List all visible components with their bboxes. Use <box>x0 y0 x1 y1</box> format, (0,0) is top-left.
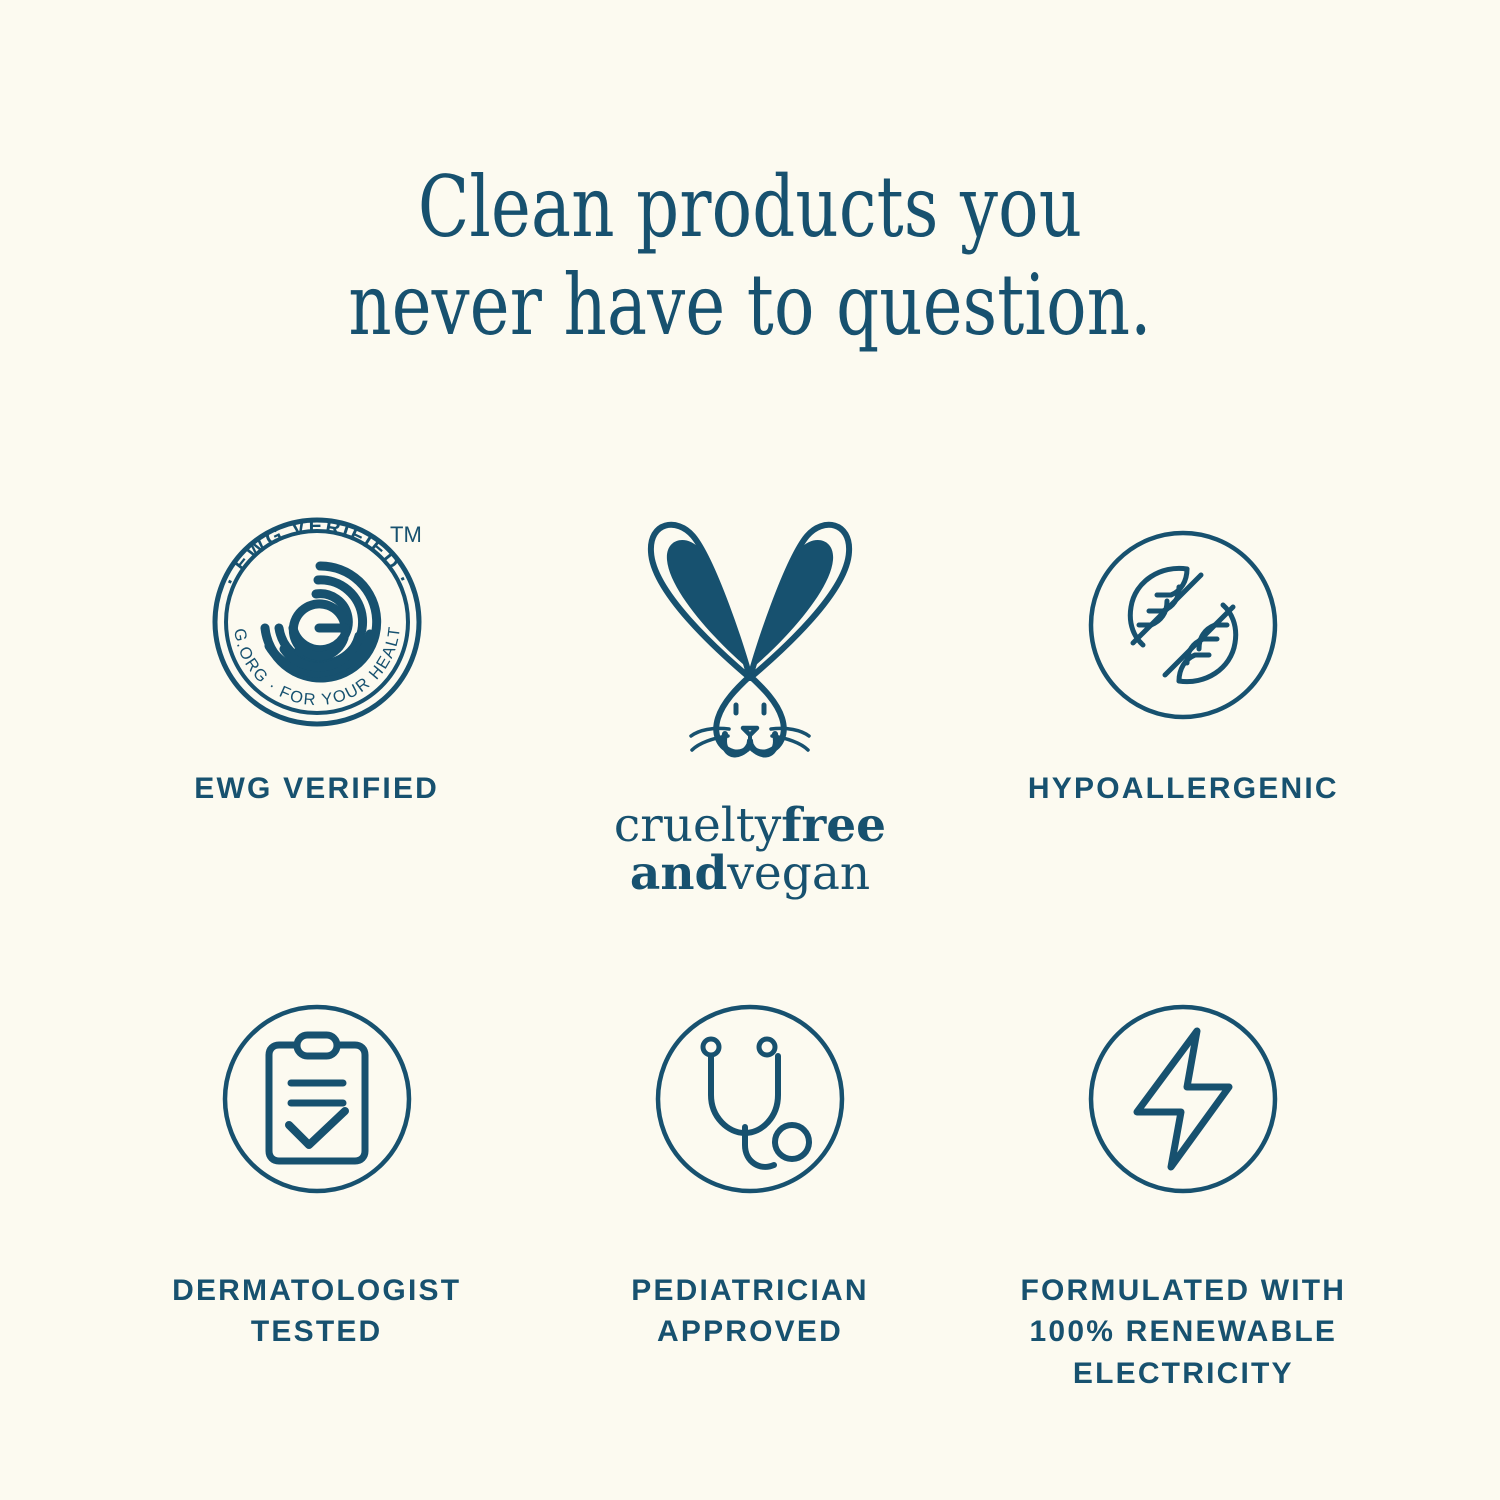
bunny-heart-ears-icon <box>625 500 875 800</box>
clipboard-checkmark-in-circle-icon <box>217 999 417 1199</box>
dermatologist-icon-container <box>217 974 417 1224</box>
page-title-line-2: never have to question. <box>150 256 1350 354</box>
logotype-free: free <box>781 798 886 853</box>
label-line-3: ELECTRICITY <box>1020 1353 1346 1394</box>
electricity-icon-container <box>1083 974 1283 1224</box>
cruelty-free-logotype: crueltyfree andvegan <box>614 802 886 898</box>
badge-ewg-verified: · EWG VERIFIED · EWG.ORG · FOR YOUR HEAL… <box>100 500 533 898</box>
label-line-2: APPROVED <box>631 1311 869 1352</box>
badge-label-hypoallergenic: HYPOALLERGENIC <box>1028 768 1339 809</box>
badge-label-ewg-verified: EWG VERIFIED <box>194 768 439 809</box>
marketing-badge-panel: Clean products you never have to questio… <box>0 0 1500 1500</box>
label-line-1: DERMATOLOGIST <box>172 1270 461 1311</box>
badge-pediatrician-approved: PEDIATRICIAN APPROVED <box>533 974 966 1394</box>
badge-renewable-electricity: FORMULATED WITH 100% RENEWABLE ELECTRICI… <box>967 974 1400 1394</box>
badge-grid: · EWG VERIFIED · EWG.ORG · FOR YOUR HEAL… <box>100 500 1400 1394</box>
logotype-vegan: vegan <box>727 846 870 901</box>
label-line-1: FORMULATED WITH <box>1020 1270 1346 1311</box>
label-line-2: 100% RENEWABLE <box>1020 1311 1346 1352</box>
page-title: Clean products you never have to questio… <box>150 158 1350 355</box>
badge-label-pediatrician-approved: PEDIATRICIAN APPROVED <box>631 1270 869 1353</box>
badge-label-renewable-electricity: FORMULATED WITH 100% RENEWABLE ELECTRICI… <box>1020 1270 1346 1394</box>
logotype-and: and <box>630 846 728 901</box>
label-line-1: PEDIATRICIAN <box>631 1270 869 1311</box>
pediatrician-icon-container <box>650 974 850 1224</box>
badge-label-dermatologist-tested: DERMATOLOGIST TESTED <box>172 1270 461 1353</box>
trademark-symbol: TM <box>390 522 422 547</box>
label-line-2: TESTED <box>172 1311 461 1352</box>
ewg-icon-container: · EWG VERIFIED · EWG.ORG · FOR YOUR HEAL… <box>202 500 432 750</box>
badge-hypoallergenic: HYPOALLERGENIC <box>967 500 1400 898</box>
lightning-bolt-in-circle-icon <box>1083 999 1283 1199</box>
two-feathers-in-circle-icon <box>1083 525 1283 725</box>
hypoallergenic-icon-container <box>1083 500 1283 750</box>
logotype-cruelty: cruelty <box>614 798 781 853</box>
page-title-line-1: Clean products you <box>150 158 1350 256</box>
stethoscope-in-circle-icon <box>650 999 850 1199</box>
badge-cruelty-free-and-vegan: crueltyfree andvegan <box>533 500 966 898</box>
ewg-verified-seal-icon: · EWG VERIFIED · EWG.ORG · FOR YOUR HEAL… <box>202 510 432 740</box>
badge-dermatologist-tested: DERMATOLOGIST TESTED <box>100 974 533 1394</box>
bunny-icon-container <box>625 500 875 800</box>
